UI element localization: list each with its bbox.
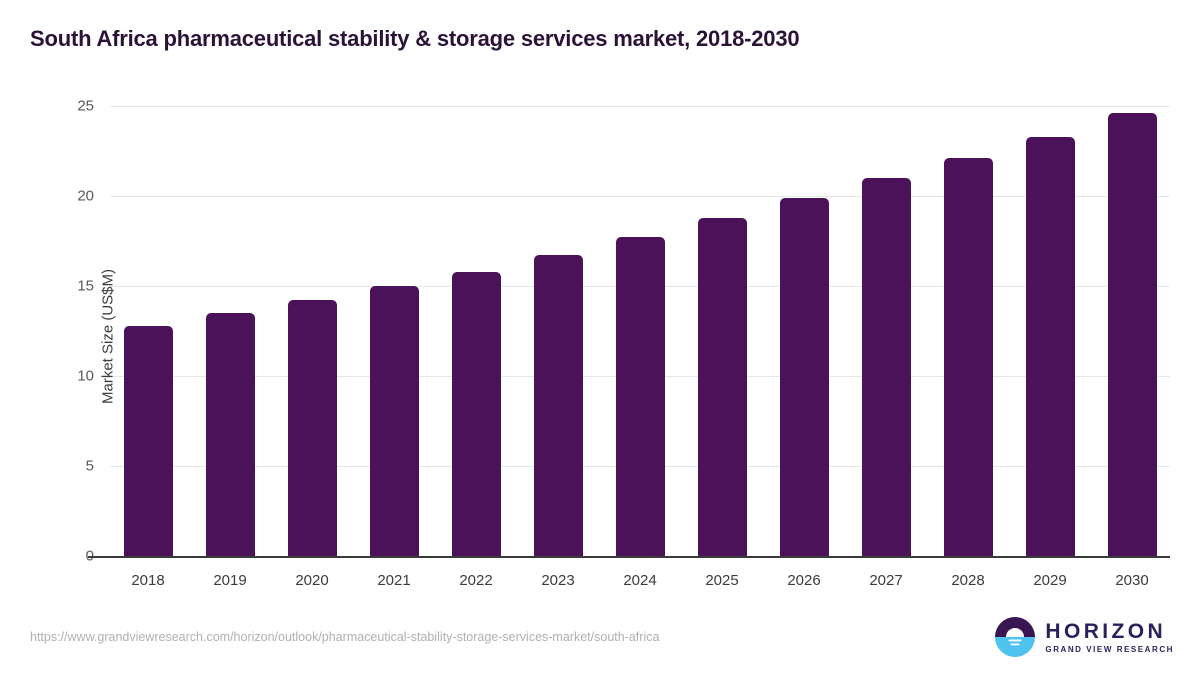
bar[interactable]: [452, 272, 501, 556]
horizon-logo[interactable]: HORIZON GRAND VIEW RESEARCH: [994, 616, 1174, 658]
bar[interactable]: [370, 286, 419, 556]
bar[interactable]: [780, 198, 829, 556]
x-axis-tick-label: 2022: [436, 572, 516, 589]
bar[interactable]: [1026, 137, 1075, 556]
x-axis-tick-label: 2030: [1092, 572, 1172, 589]
bar[interactable]: [862, 178, 911, 556]
x-axis-tick-label: 2025: [682, 572, 762, 589]
y-axis-label: Market Size (US$M): [100, 187, 117, 487]
bar[interactable]: [124, 326, 173, 556]
x-axis-tick-label: 2020: [272, 572, 352, 589]
y-axis-tick-label: 0: [14, 548, 94, 565]
logo-tagline: GRAND VIEW RESEARCH: [1045, 646, 1174, 654]
source-url[interactable]: https://www.grandviewresearch.com/horizo…: [30, 630, 659, 644]
page-title: South Africa pharmaceutical stability & …: [30, 26, 799, 52]
bar[interactable]: [1108, 113, 1157, 556]
bar[interactable]: [944, 158, 993, 556]
logo-text: HORIZON GRAND VIEW RESEARCH: [1045, 621, 1174, 654]
x-axis-tick-label: 2029: [1010, 572, 1090, 589]
bar[interactable]: [698, 218, 747, 556]
bar[interactable]: [616, 237, 665, 556]
y-axis-tick-label: 25: [14, 98, 94, 115]
plot-area: 0510152025 20182019202020212022202320242…: [110, 100, 1170, 562]
gridline: [110, 196, 1170, 197]
y-axis-tick-label: 15: [14, 278, 94, 295]
y-axis-tick-label: 10: [14, 368, 94, 385]
x-axis-tick-label: 2026: [764, 572, 844, 589]
bar[interactable]: [206, 313, 255, 556]
y-axis-tick-label: 5: [14, 458, 94, 475]
y-axis-tick-label: 20: [14, 188, 94, 205]
horizon-sun-circle-icon: [994, 616, 1036, 658]
x-axis-tick-label: 2019: [190, 572, 270, 589]
logo-wordmark: HORIZON: [1045, 621, 1174, 642]
gridline: [110, 106, 1170, 107]
x-axis-tick-label: 2021: [354, 572, 434, 589]
x-axis-line: [88, 556, 1170, 558]
x-axis-tick-label: 2018: [108, 572, 188, 589]
x-axis-tick-label: 2023: [518, 572, 598, 589]
x-axis-tick-label: 2024: [600, 572, 680, 589]
x-axis-tick-label: 2028: [928, 572, 1008, 589]
chart-page: South Africa pharmaceutical stability & …: [0, 0, 1200, 675]
bar[interactable]: [288, 300, 337, 556]
bar[interactable]: [534, 255, 583, 556]
x-axis-tick-label: 2027: [846, 572, 926, 589]
